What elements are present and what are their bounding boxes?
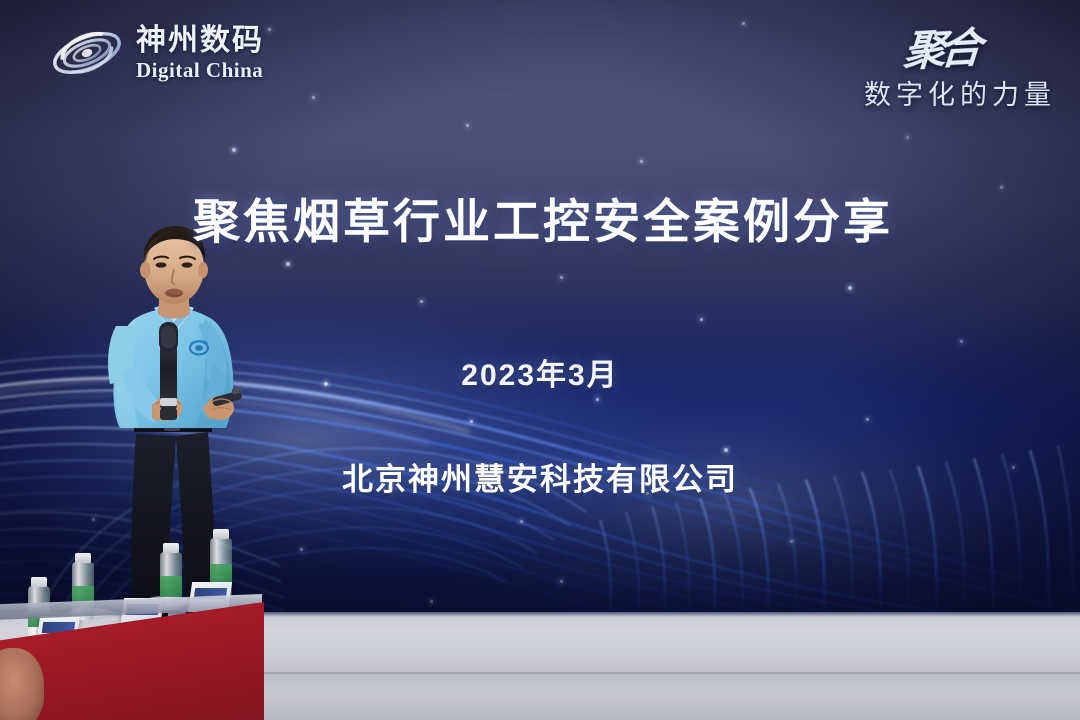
slide-title: 聚焦烟草行业工控安全案例分享 [0, 183, 1080, 252]
bottle-cap [163, 543, 179, 553]
slide-title-text: 聚焦烟草行业工控安全案例分享 [193, 195, 893, 248]
digital-china-wordmark: 神州数码 Digital China [136, 26, 264, 81]
panel-table [0, 520, 294, 720]
slide-company-name: 北京神州慧安科技有限公司 [0, 454, 1080, 499]
bottle-cap [75, 553, 91, 563]
bottle-label [160, 576, 182, 597]
digital-china-swirl-logo-icon [48, 22, 126, 84]
event-brand-mark: 聚合 数字化的力量 [864, 16, 1056, 112]
conference-stage-photo: 神州数码 Digital China 聚合 数字化的力量 聚焦烟草行业工控安全案… [0, 0, 1080, 720]
event-slogan: 数字化的力量 [864, 73, 1056, 112]
digital-china-logo: 神州数码 Digital China [48, 22, 264, 84]
brand-name-cn: 神州数码 [136, 26, 264, 56]
juhe-calligraphy: 聚合 [902, 14, 979, 79]
bottle-cap [31, 577, 47, 587]
slide-date: 2023年3月 [0, 350, 1080, 394]
brand-name-en: Digital China [136, 60, 264, 81]
bottle-cap [213, 529, 229, 539]
